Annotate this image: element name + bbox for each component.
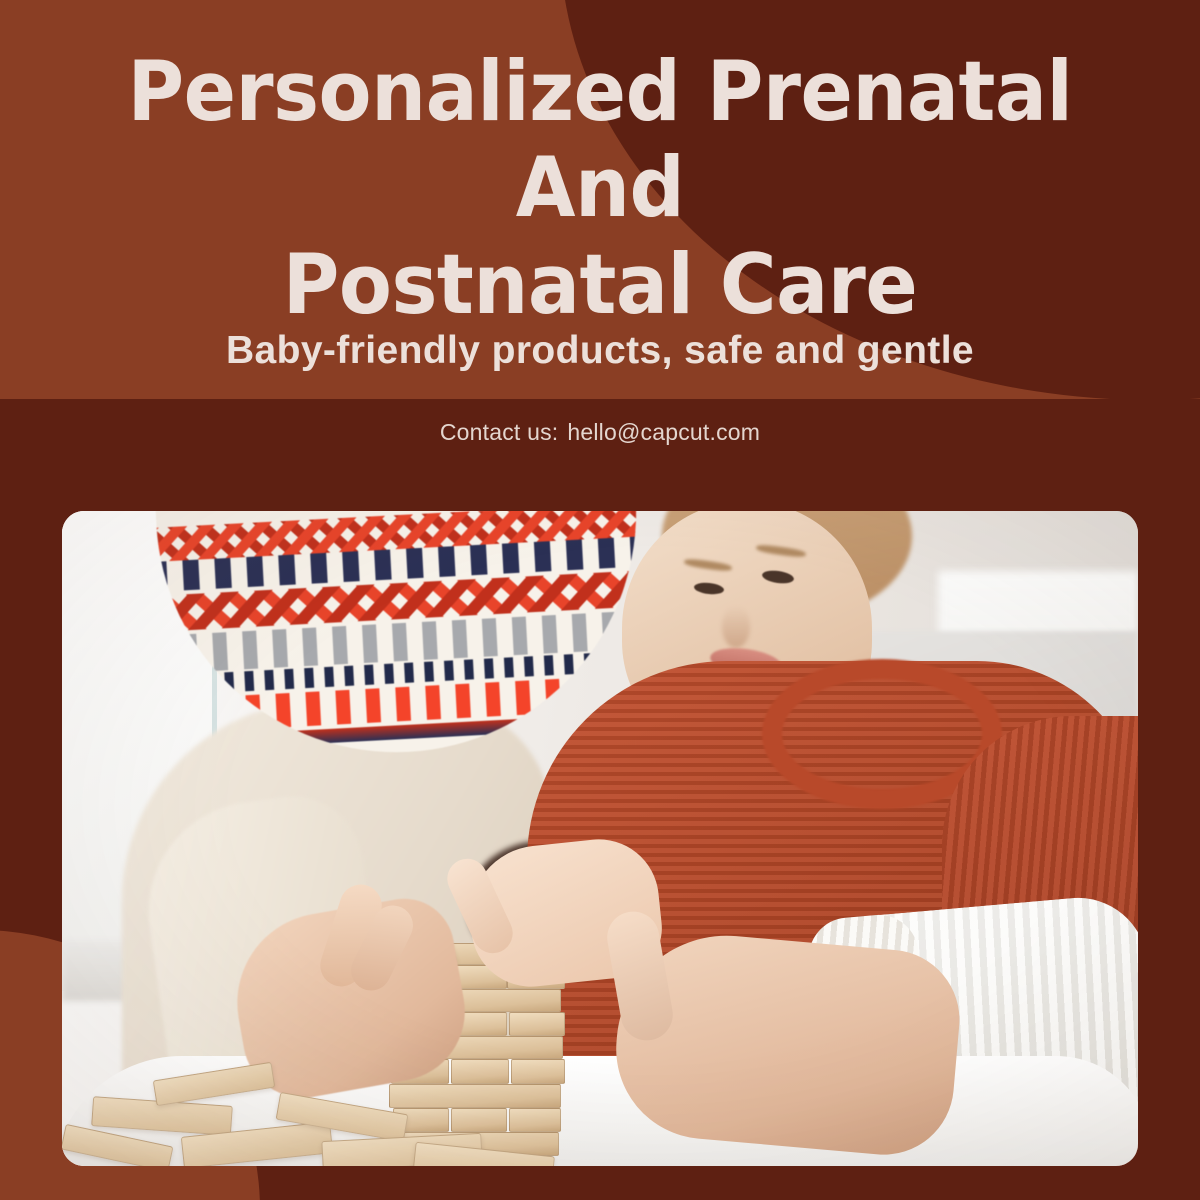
contact-label: Contact us: xyxy=(440,419,559,445)
contact-line: Contact us:hello@capcut.com xyxy=(0,419,1200,446)
poster-canvas: Personalized Prenatal And Postnatal Care… xyxy=(0,0,1200,1200)
contact-email[interactable]: hello@capcut.com xyxy=(567,419,760,445)
photo-vignette xyxy=(62,511,1138,1166)
subtitle: Baby-friendly products, safe and gentle xyxy=(0,329,1200,373)
hero-photo xyxy=(62,511,1138,1166)
page-title: Personalized Prenatal And Postnatal Care xyxy=(42,44,1158,333)
